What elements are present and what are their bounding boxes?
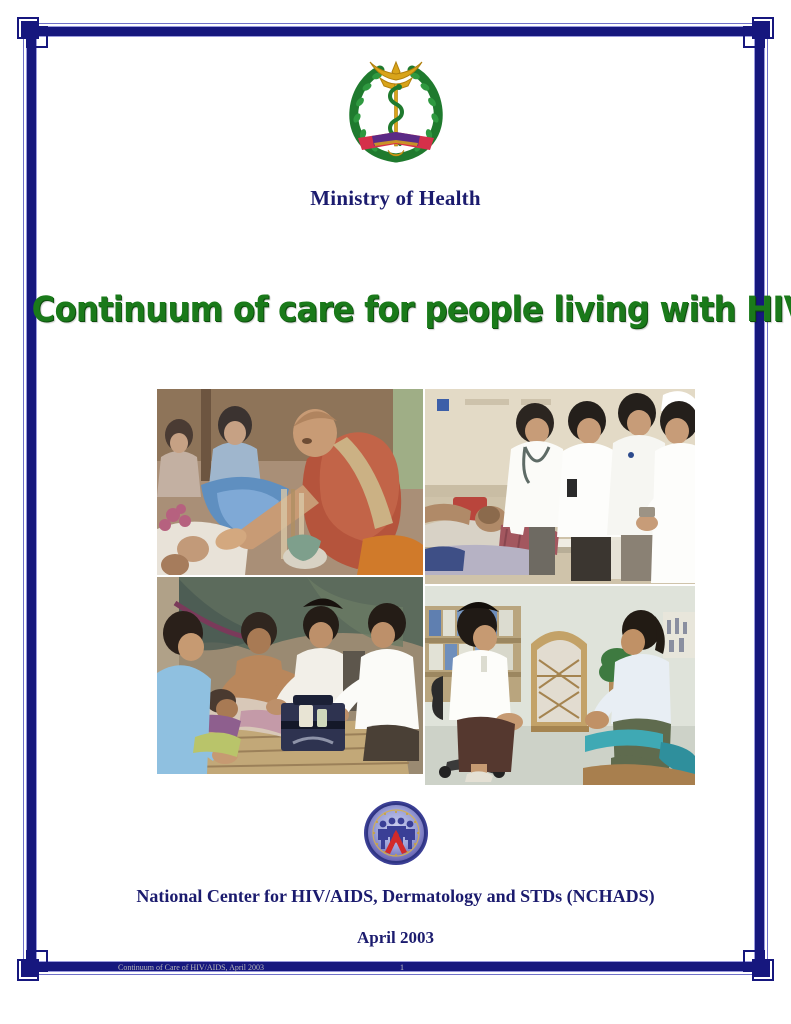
photo-collage xyxy=(157,389,695,785)
photo-home-based-care xyxy=(157,577,423,774)
page-number: 1 xyxy=(400,963,404,972)
ministry-of-health-emblem-icon xyxy=(344,58,448,166)
photo-hospital-ward-round xyxy=(425,389,695,584)
organization-name: National Center for HIV/AIDS, Dermatolog… xyxy=(0,886,791,907)
photo-monk-home-visit xyxy=(157,389,423,575)
page-footer-text: Continuum of Care of HIV/AIDS, April 200… xyxy=(118,963,678,972)
document-cover-page: Ministry of Health Continuum of care for… xyxy=(0,0,791,1024)
photo-counselling-session xyxy=(425,586,695,785)
nchads-logo-icon xyxy=(363,800,429,866)
document-title: Continuum of care for people living with… xyxy=(32,290,760,330)
document-date: April 2003 xyxy=(0,928,791,948)
ministry-label: Ministry of Health xyxy=(0,186,791,211)
